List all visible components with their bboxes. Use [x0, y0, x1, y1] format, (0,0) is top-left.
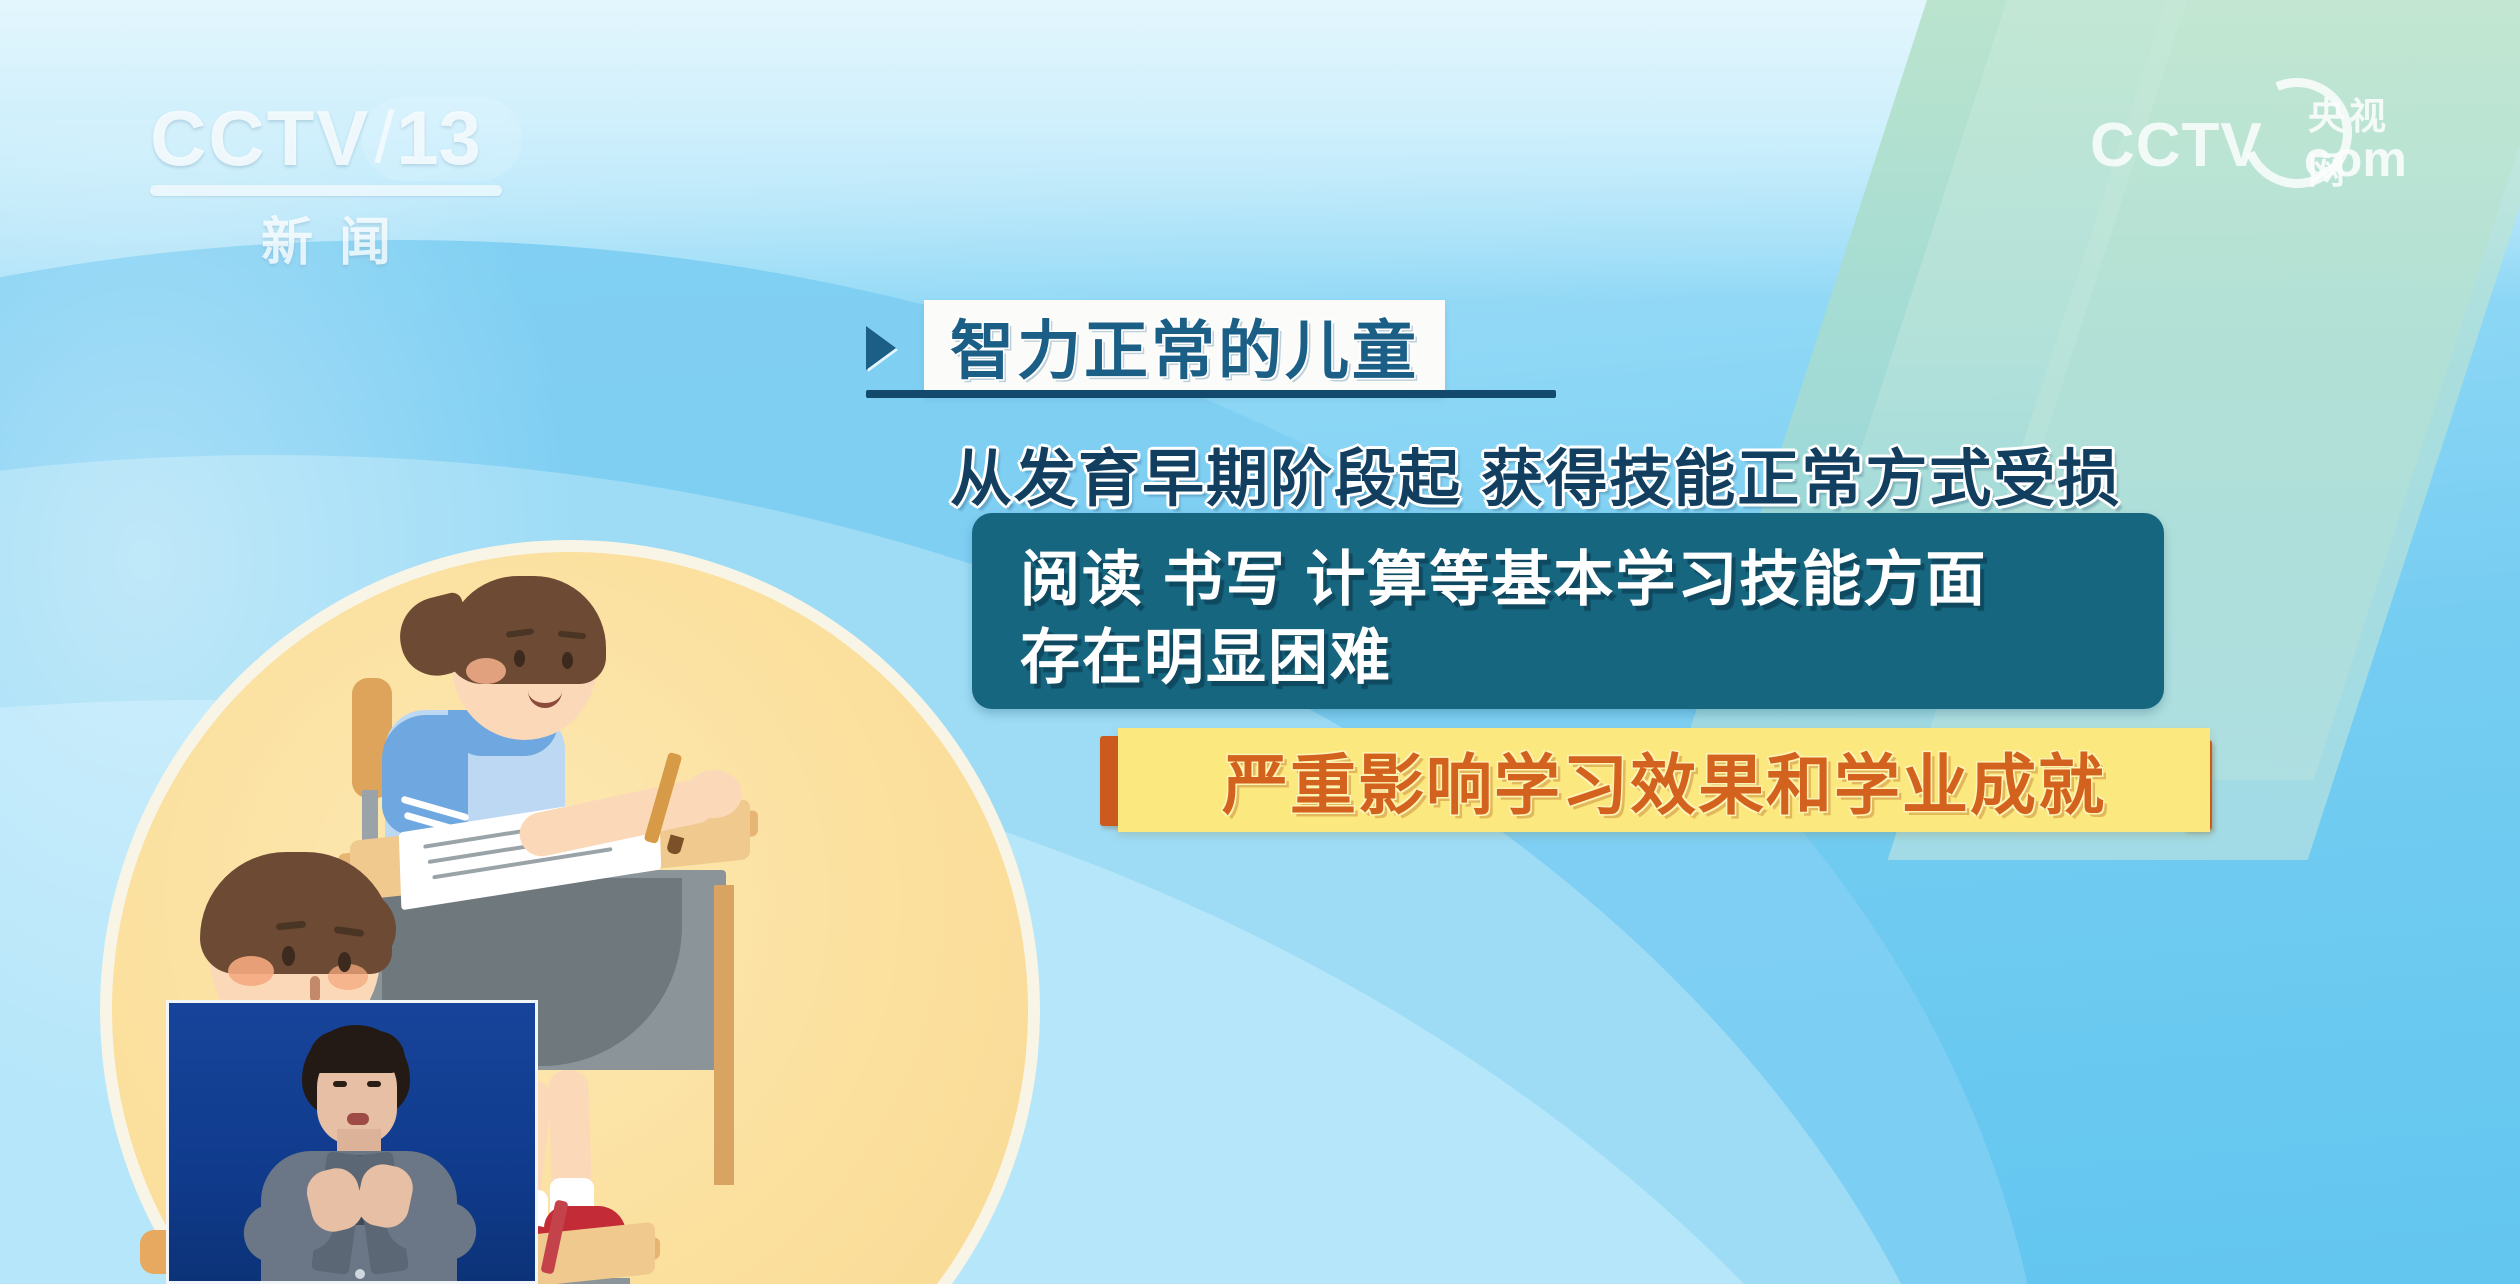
headline-underline [866, 390, 1556, 398]
broadcast-frame: CCTV / 13 新闻 CCTV 央视网 com [0, 0, 2520, 1284]
headline-plate: 智力正常的儿童 [924, 300, 1445, 396]
cctvcom-wordmark: CCTV [2090, 110, 2263, 181]
interpreter-fringe [309, 1031, 405, 1073]
interpreter-mouth [347, 1113, 369, 1125]
cctv13-logo-pill [362, 97, 522, 181]
headline-banner: 智力正常的儿童 [866, 300, 1445, 396]
boy-nose [310, 976, 320, 1002]
cctv13-underbar [150, 185, 502, 196]
emphasis-text: 严重影响学习效果和学业成就 [1222, 732, 2106, 828]
detail-line-2: 存在明显困难 [1020, 609, 1392, 696]
sign-language-inset [166, 1000, 538, 1284]
subtitle-text: 从发育早期阶段起 获得技能正常方式受损 [950, 428, 2121, 518]
boy-eye-right [338, 952, 351, 972]
detail-line-1: 阅读 书写 计算等基本学习技能方面 [1020, 531, 1987, 618]
play-triangle-icon [866, 326, 896, 370]
interpreter-eye-right [367, 1081, 381, 1087]
girl-eye-right [562, 652, 573, 669]
girl-eye-left [514, 650, 525, 667]
girl-desk-leg-right [714, 885, 734, 1185]
boy-cheek-left [228, 956, 274, 986]
cctvcom-domain: com [2304, 130, 2407, 188]
detail-box: 阅读 书写 计算等基本学习技能方面 存在明显困难 [972, 513, 2164, 709]
cctvcom-watermark: CCTV 央视网 com [2090, 82, 2420, 194]
girl-hand [686, 770, 742, 818]
emphasis-panel: 严重影响学习效果和学业成就 [1118, 728, 2210, 832]
boy-eye-left [282, 946, 295, 966]
emphasis-banner: 严重影响学习效果和学业成就 [1100, 728, 2320, 836]
interpreter-jacket-button [355, 1269, 365, 1279]
cctv13-channel-logo: CCTV / 13 新闻 [150, 95, 530, 260]
cctv13-wordmark: CCTV [150, 93, 370, 184]
interpreter-eye-left [333, 1081, 347, 1087]
cctv13-subtitle: 新闻 [150, 200, 502, 275]
girl-cheek [466, 658, 506, 684]
page-title: 智力正常的儿童 [950, 300, 1419, 392]
